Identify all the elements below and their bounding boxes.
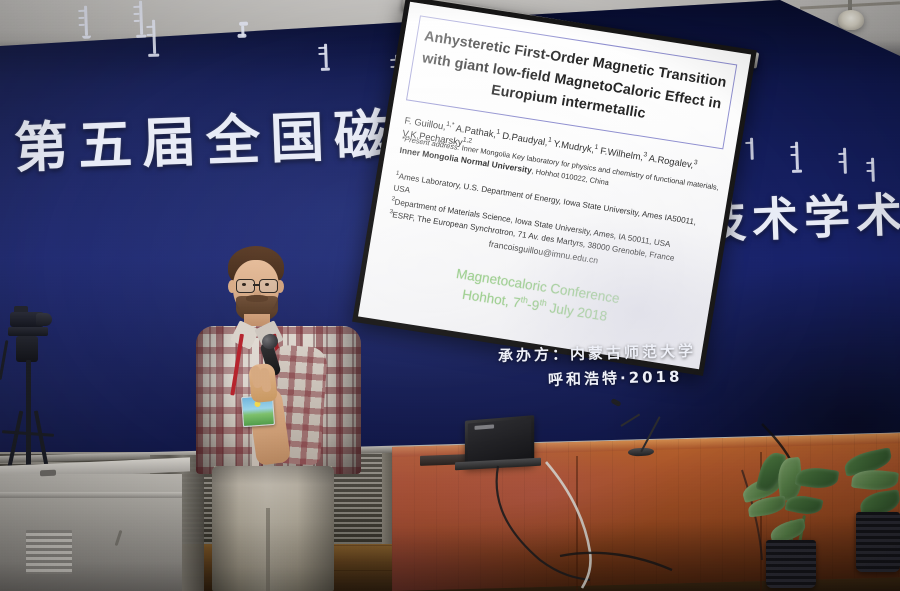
glasses-lens-left: [236, 279, 255, 293]
author-2-sup: 1: [496, 128, 501, 135]
author-6-sup: 3: [693, 159, 698, 166]
presentation-slide: Anhysteretic First-Order Magnetic Transi…: [358, 2, 751, 369]
glasses-bridge: [253, 284, 259, 286]
camera-lens-icon: [36, 313, 52, 326]
projection-screen-surface: Anhysteretic First-Order Magnetic Transi…: [358, 2, 751, 369]
podium-panel-seam: [576, 456, 578, 591]
cabinet-edge-trim: [0, 492, 182, 498]
cabinet-vent-grille: [26, 530, 72, 574]
author-4: Y.Mudryk,: [553, 138, 595, 155]
author-6: A.Rogalev,: [648, 152, 694, 170]
author-5: F.Wilhelm,: [600, 145, 645, 162]
plant-pot: [856, 512, 900, 572]
trouser-leg-seam: [266, 508, 270, 591]
cabinet-latch[interactable]: [40, 470, 56, 477]
author-3-sup: 1: [547, 136, 552, 143]
author-3: D.Paudyal,: [501, 130, 548, 148]
speaker-eye-right: [265, 283, 269, 286]
speaker-presenter: [178, 238, 378, 591]
author-4-sup: 1: [594, 144, 599, 151]
speaker-eye-left: [242, 283, 246, 286]
tripod-leg-center: [26, 360, 31, 480]
ceiling-light-icon: [838, 10, 864, 30]
author-1-sup: 1,*: [446, 121, 455, 129]
plant-pot: [766, 540, 816, 588]
projection-screen: Anhysteretic First-Order Magnetic Transi…: [352, 0, 757, 376]
speaker-trousers: [212, 466, 334, 591]
author-5-sup: 3: [643, 151, 648, 158]
tripod-mount: [16, 336, 38, 362]
banner-chinese-left: 第五届全国磁: [13, 90, 400, 183]
glasses-lens-right: [259, 279, 278, 293]
tripod-head: [8, 327, 48, 336]
host-city-year-line: 呼和浩特·2018: [548, 365, 683, 390]
conference-photo-scene: 第五届全国磁 技术学术研讨会 Anhysteretic First-Order …: [0, 0, 900, 591]
speaker-ear-left: [228, 280, 236, 293]
